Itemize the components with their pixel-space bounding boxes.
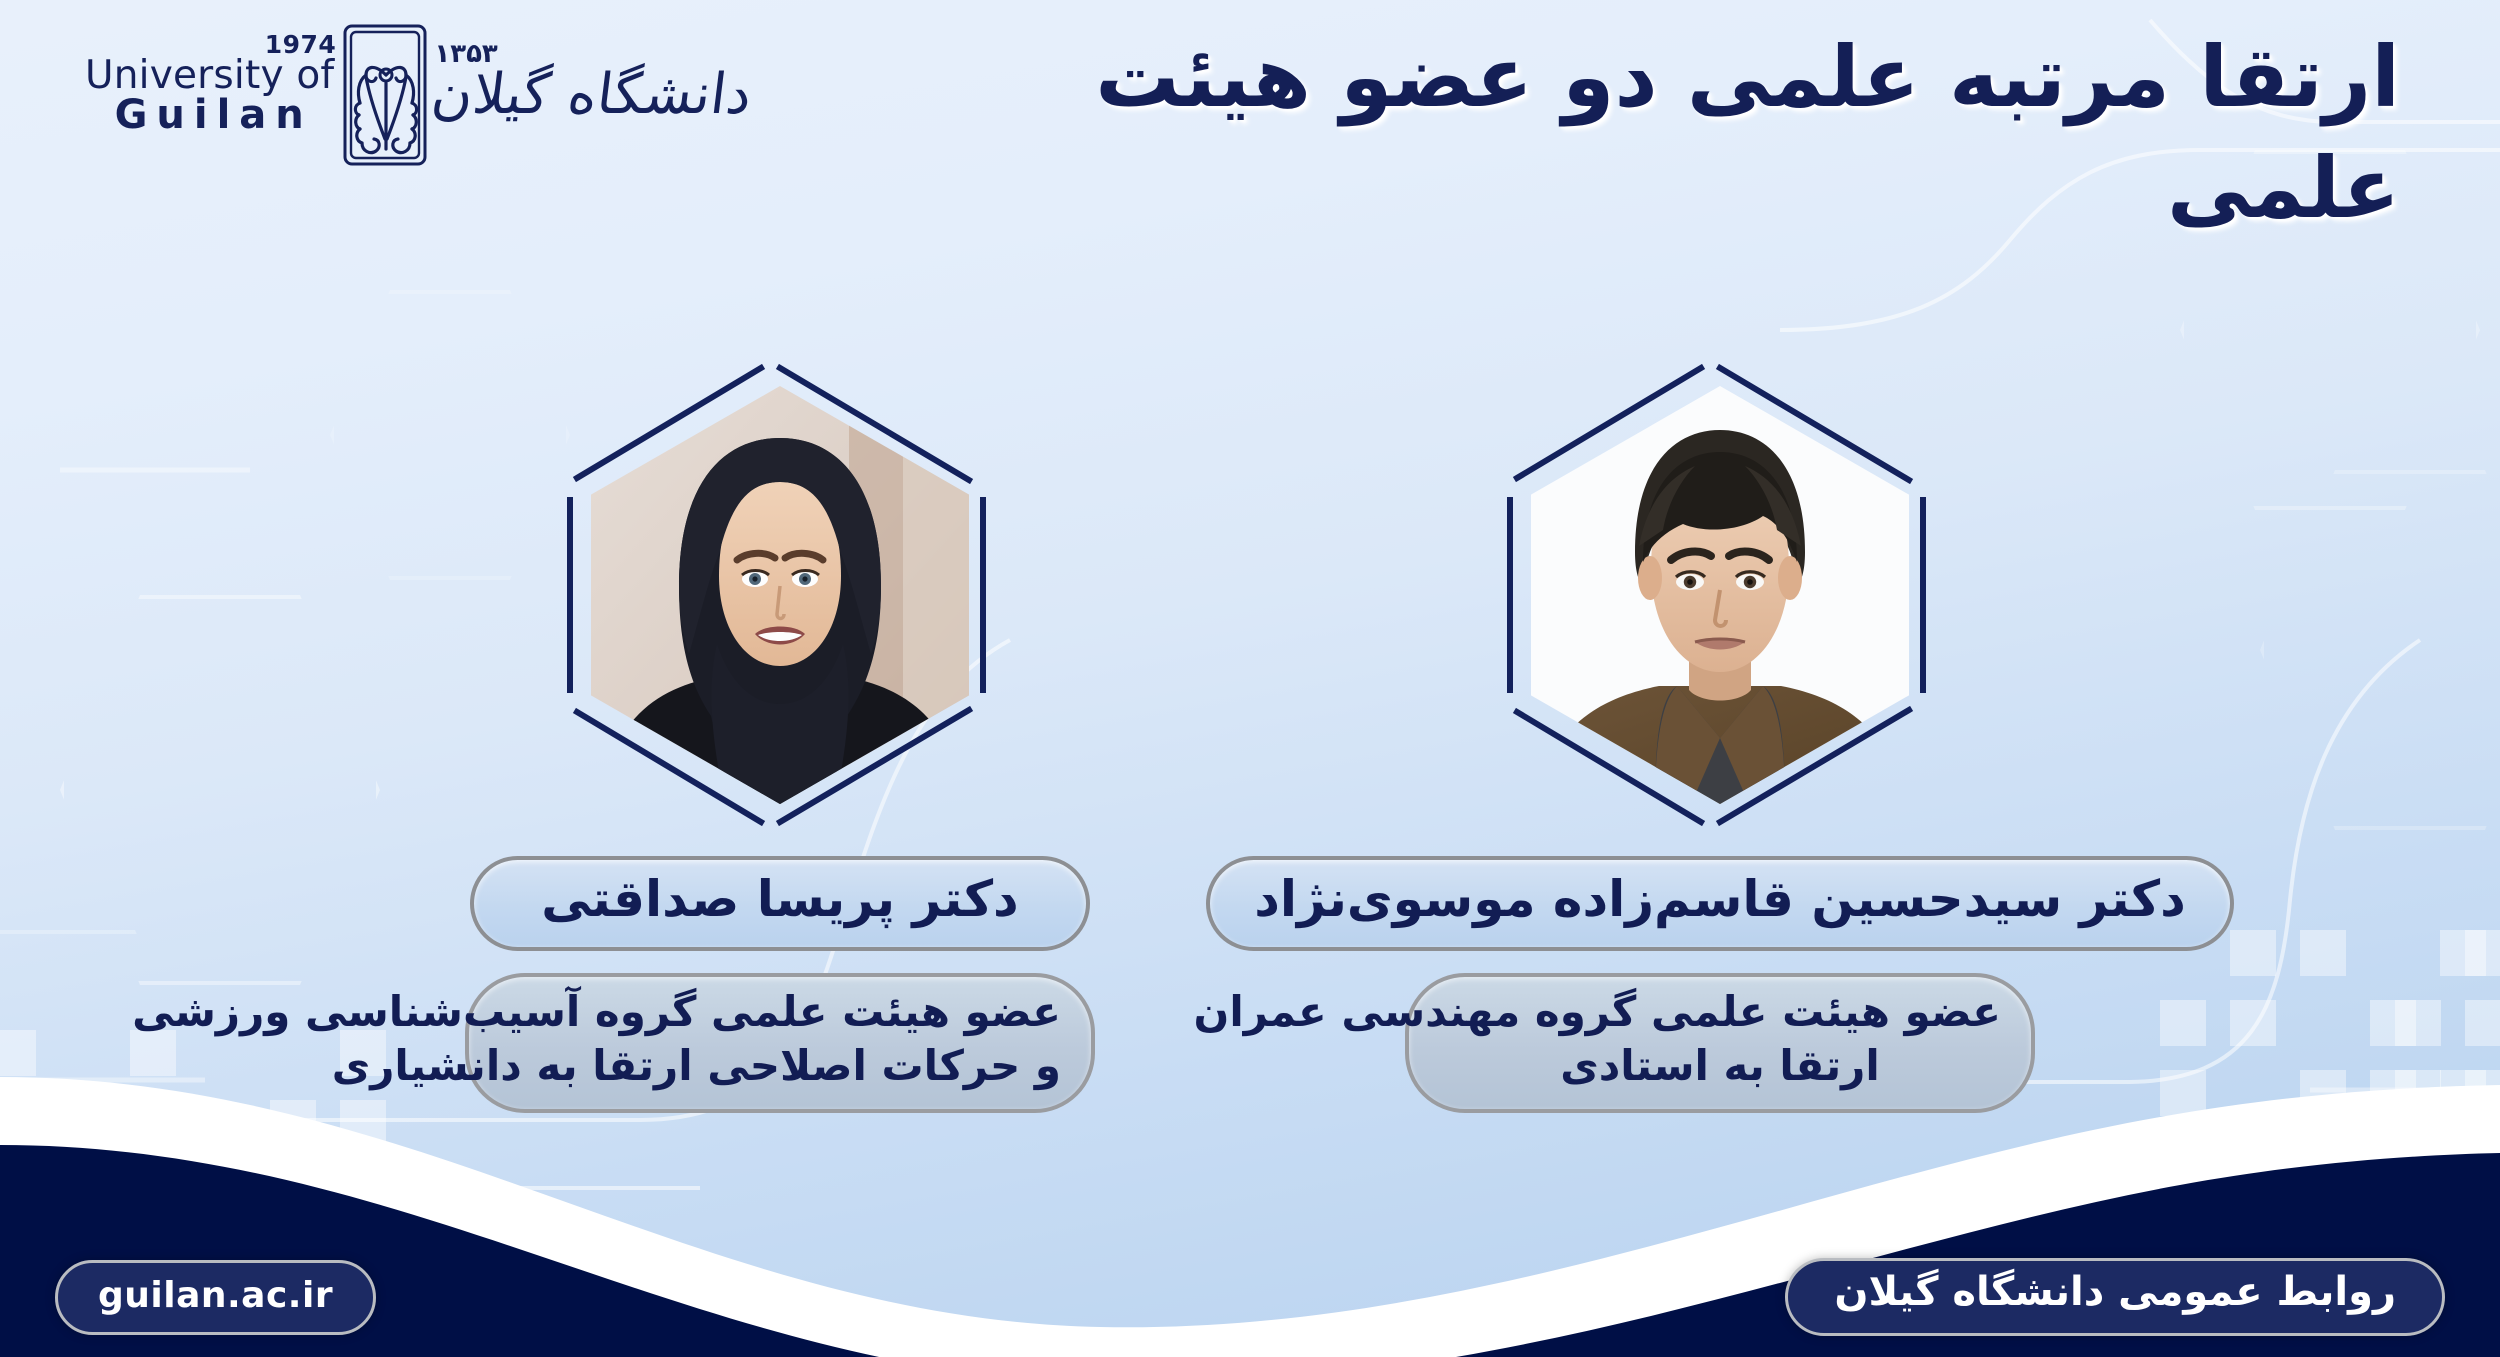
poster-canvas: 1974 University of Guilan [0,0,2500,1357]
photo-frame-hexagon [565,360,995,830]
photo-frame-hexagon [1505,360,1935,830]
logo-line-guilan: Guilan [85,95,334,135]
university-logo: 1974 University of Guilan [85,30,545,160]
page-title: ارتقا مرتبه علمی دو عضو هیئت علمی [900,22,2400,244]
logo-persian-text: ۱۳۵۳ دانشگاه گیلان [432,67,751,123]
logo-english-text: 1974 University of Guilan [85,56,334,135]
guilan-university-emblem-icon [340,21,432,169]
logo-year-gregorian: 1974 [265,32,337,57]
footer-bar: guilan.ac.ir روابط عمومی دانشگاه گیلان [0,1237,2500,1357]
logo-line-university-of: University of [85,56,334,95]
logo-name-persian: دانشگاه گیلان [429,67,755,123]
website-badge[interactable]: guilan.ac.ir [55,1260,376,1335]
public-relations-credit-badge: روابط عمومی دانشگاه گیلان [1785,1258,2445,1336]
